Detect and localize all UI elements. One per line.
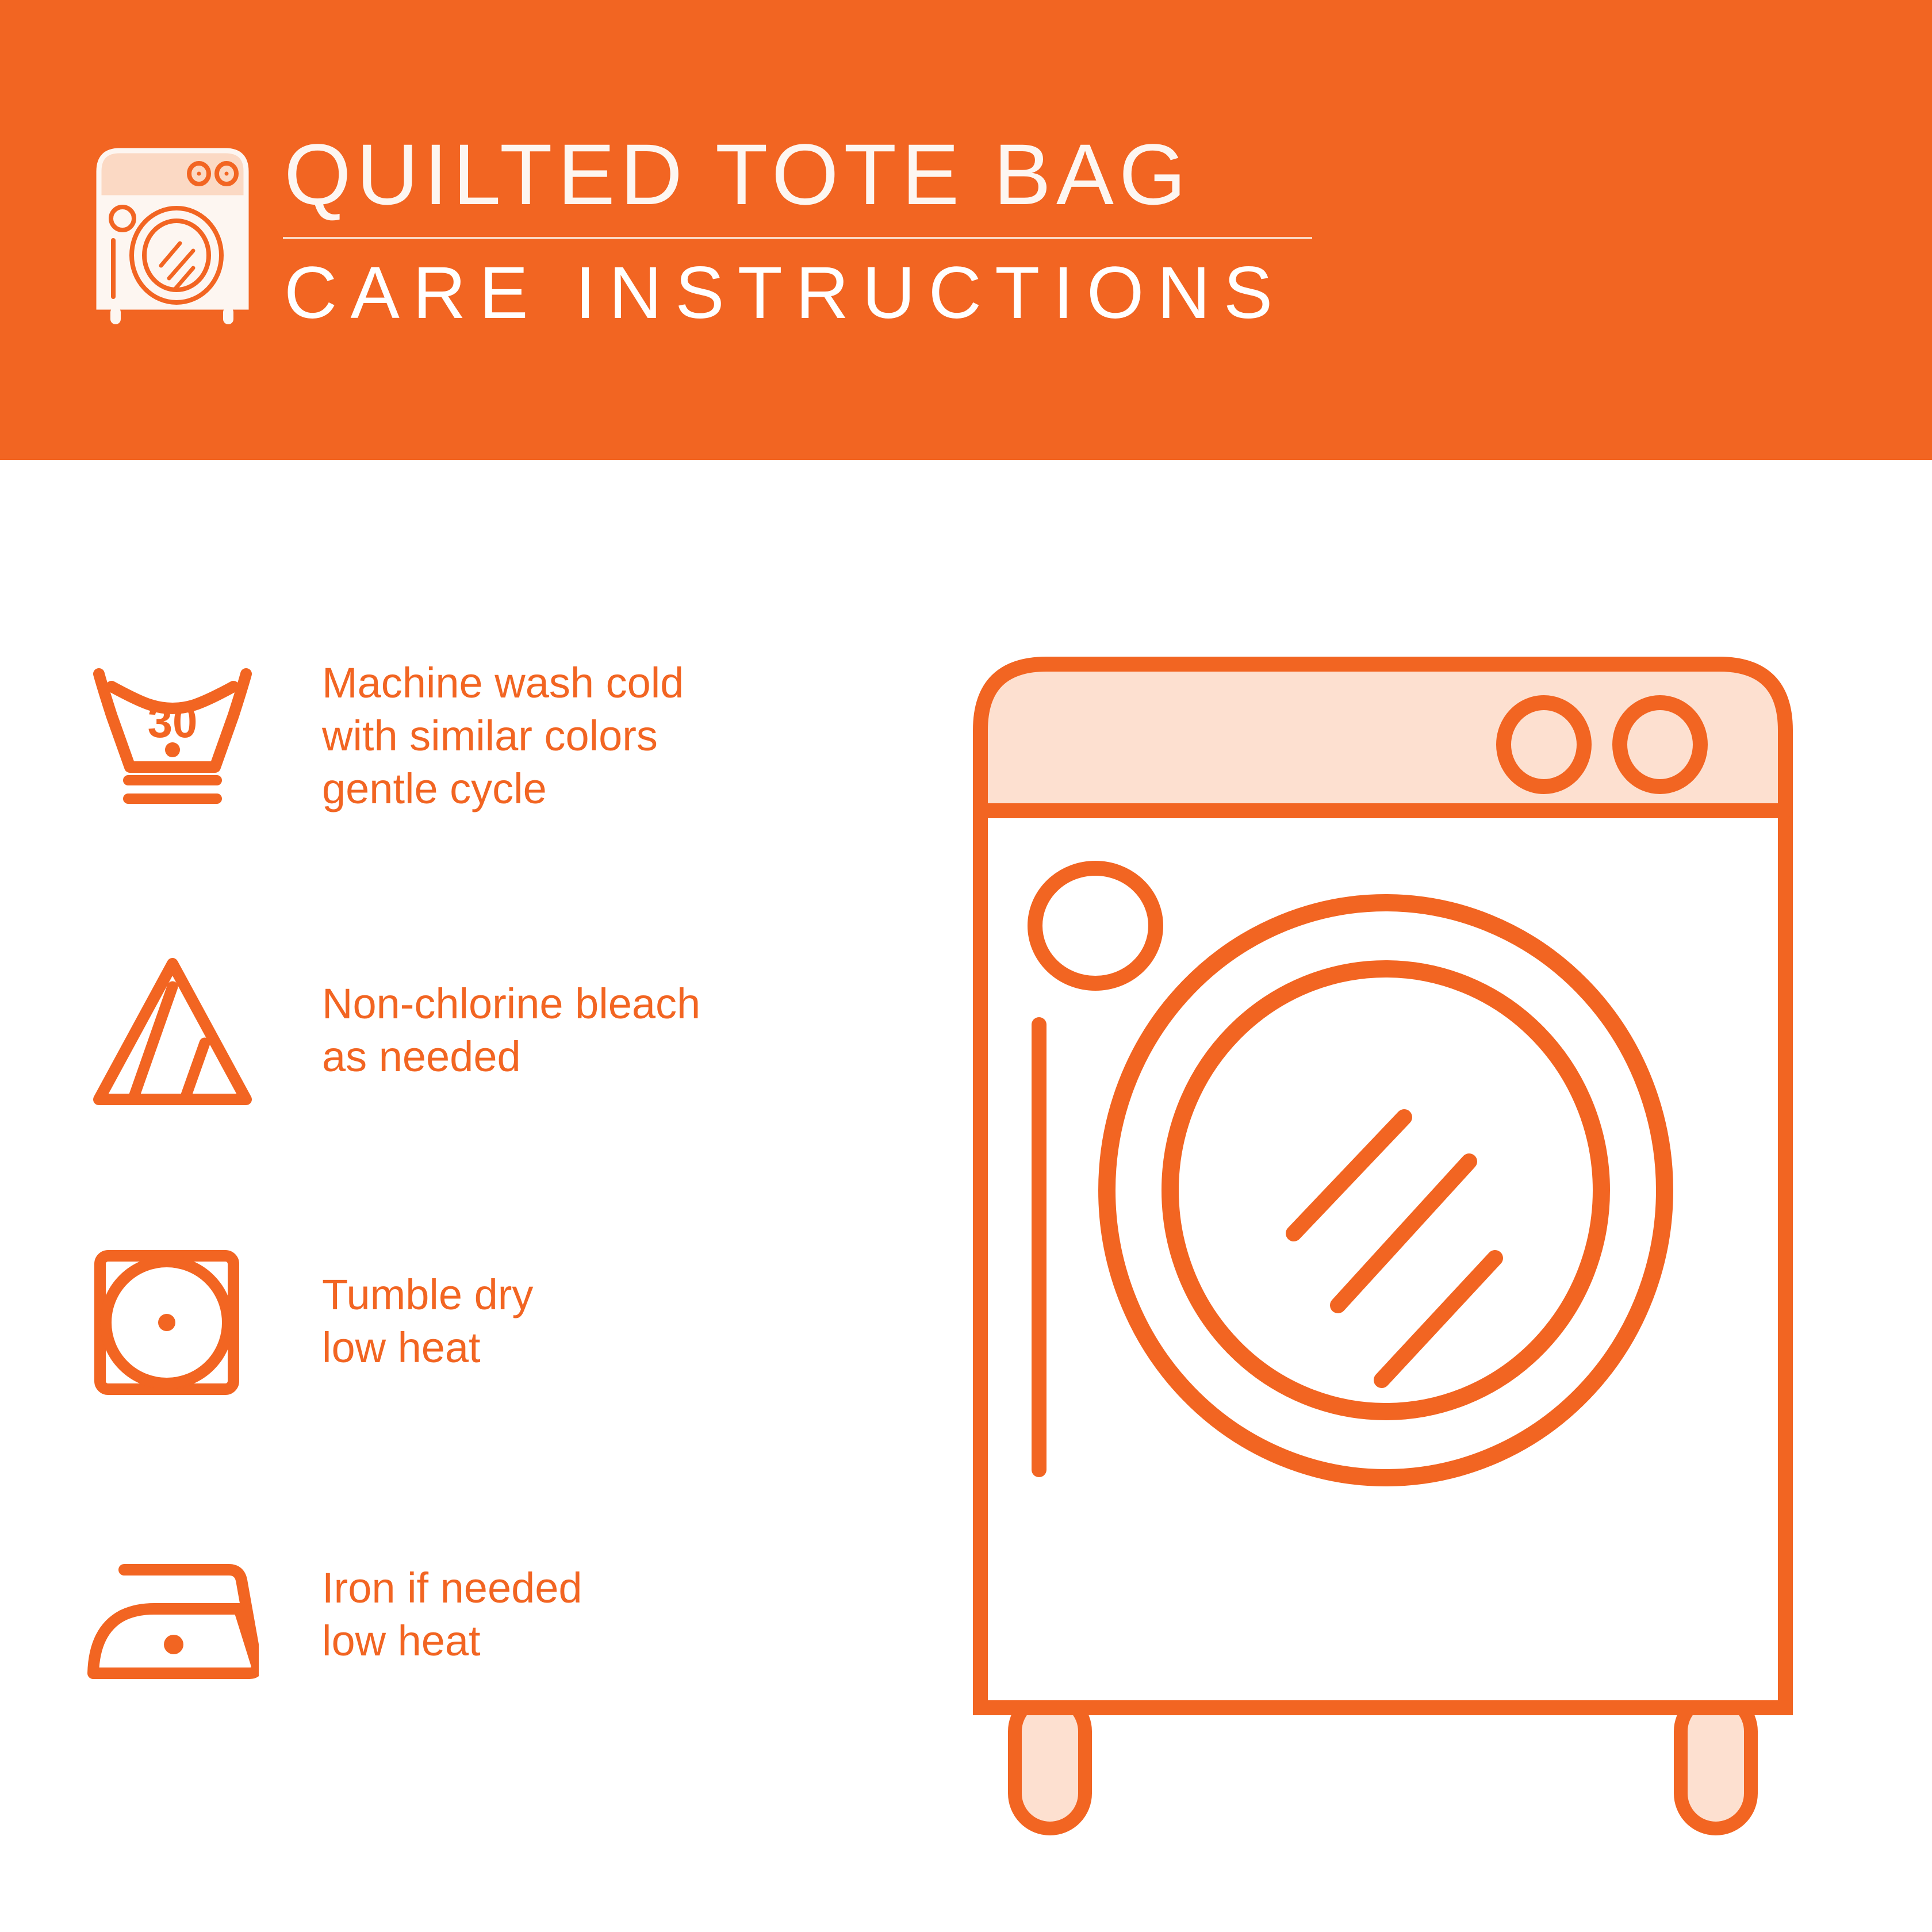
wash-basin-30-gentle-icon: 30: [86, 653, 316, 820]
header-content: QUILTED TOTE BAG CARE INSTRUCTIONS: [86, 131, 1312, 330]
care-line: Iron if needed: [322, 1562, 582, 1615]
care-line: Tumble dry: [322, 1268, 533, 1321]
washing-machine-icon: [86, 138, 259, 328]
page-subtitle: CARE INSTRUCTIONS: [282, 256, 1312, 330]
care-item-label: Tumble dry low heat: [322, 1236, 533, 1374]
care-instruction-list: 30 Machine wash cold with similar colors…: [86, 650, 903, 1823]
care-line: gentle cycle: [322, 762, 684, 815]
header-title-block: QUILTED TOTE BAG CARE INSTRUCTIONS: [282, 131, 1312, 330]
title-divider: [283, 237, 1312, 239]
care-line: Non-chlorine bleach: [322, 977, 700, 1030]
care-line: with similar colors: [322, 710, 684, 762]
washing-machine-illustration: [952, 638, 1929, 1874]
tumble-dry-low-heat-icon: [86, 1242, 316, 1403]
care-item-machine-wash: 30 Machine wash cold with similar colors…: [86, 650, 903, 943]
care-item-label: Machine wash cold with similar colors ge…: [322, 650, 684, 815]
main-content: 30 Machine wash cold with similar colors…: [0, 460, 1932, 1932]
header-banner: QUILTED TOTE BAG CARE INSTRUCTIONS: [0, 0, 1932, 460]
care-line: low heat: [322, 1321, 533, 1374]
care-item-label: Non-chlorine bleach as needed: [322, 943, 700, 1083]
svg-text:30: 30: [148, 696, 198, 747]
care-item-bleach: Non-chlorine bleach as needed: [86, 943, 903, 1236]
care-line: as needed: [322, 1030, 700, 1083]
care-item-label: Iron if needed low heat: [322, 1529, 582, 1667]
iron-low-heat-icon: [86, 1551, 316, 1695]
care-item-iron: Iron if needed low heat: [86, 1529, 903, 1823]
care-line: low heat: [322, 1615, 582, 1667]
care-item-tumble-dry: Tumble dry low heat: [86, 1236, 903, 1529]
page-title: QUILTED TOTE BAG: [282, 131, 1312, 217]
care-line: Machine wash cold: [322, 657, 684, 710]
non-chlorine-bleach-triangle-icon: [86, 951, 316, 1112]
